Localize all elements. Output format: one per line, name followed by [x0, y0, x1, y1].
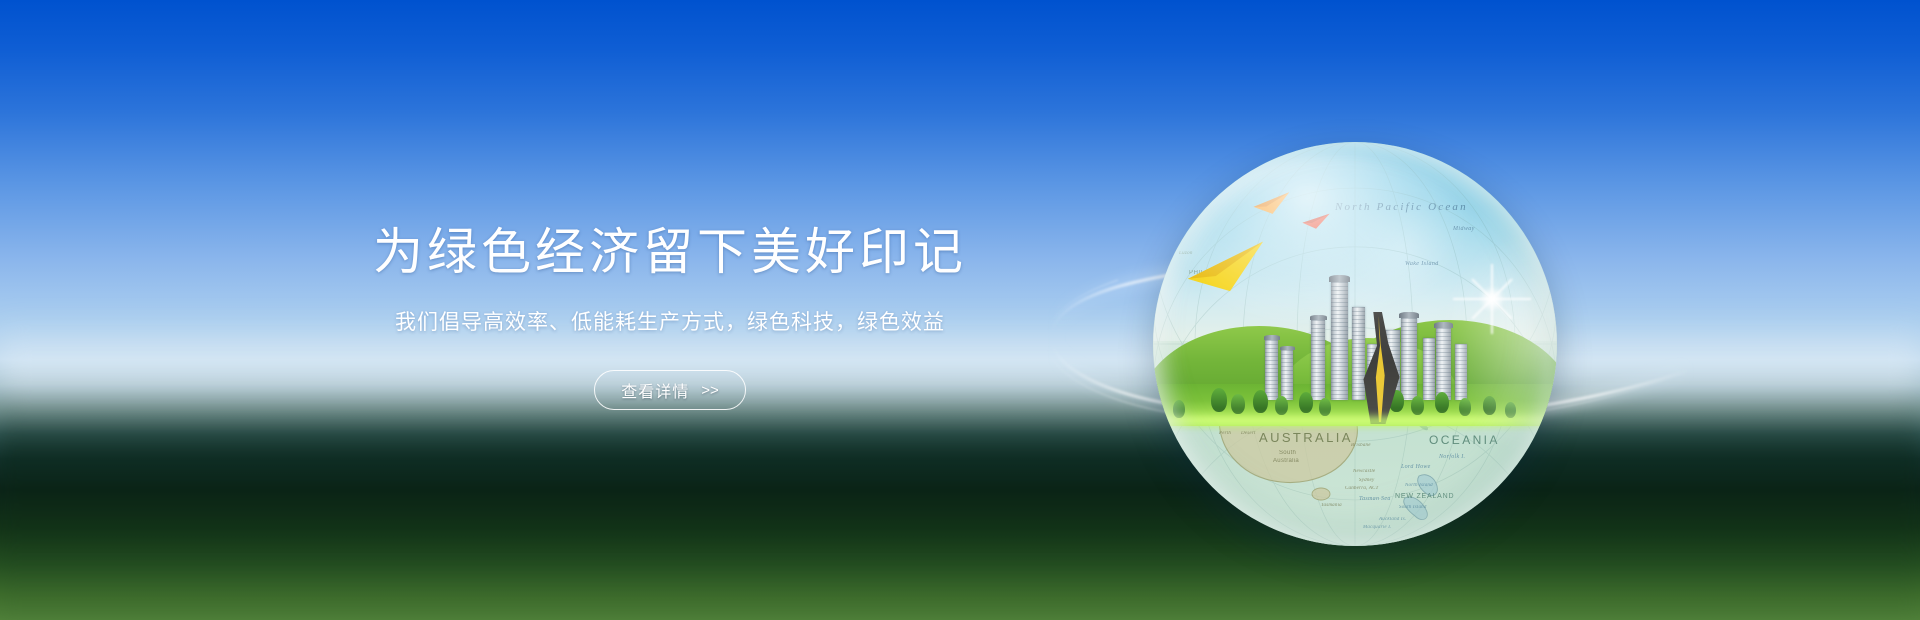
- view-details-button[interactable]: 查看详情 >>: [594, 370, 746, 410]
- hero-subtitle: 我们倡导高效率、低能耗生产方式，绿色科技，绿色效益: [335, 308, 1005, 338]
- ground-blur: [0, 380, 1920, 620]
- page-title: 为绿色经济留下美好印记: [335, 222, 1005, 282]
- view-details-label: 查看详情: [621, 378, 689, 402]
- globe-illustration: North Pacific OceanMidwayWake IslandPHIL…: [1153, 142, 1557, 558]
- globe-sphere: North Pacific OceanMidwayWake IslandPHIL…: [1153, 142, 1557, 546]
- hero-banner: North Pacific OceanMidwayWake IslandPHIL…: [0, 0, 1920, 620]
- hero-copy: 为绿色经济留下美好印记 我们倡导高效率、低能耗生产方式，绿色科技，绿色效益 查看…: [335, 222, 1005, 410]
- glass-rim: [1153, 142, 1557, 546]
- chevron-right-icon: >>: [701, 382, 719, 399]
